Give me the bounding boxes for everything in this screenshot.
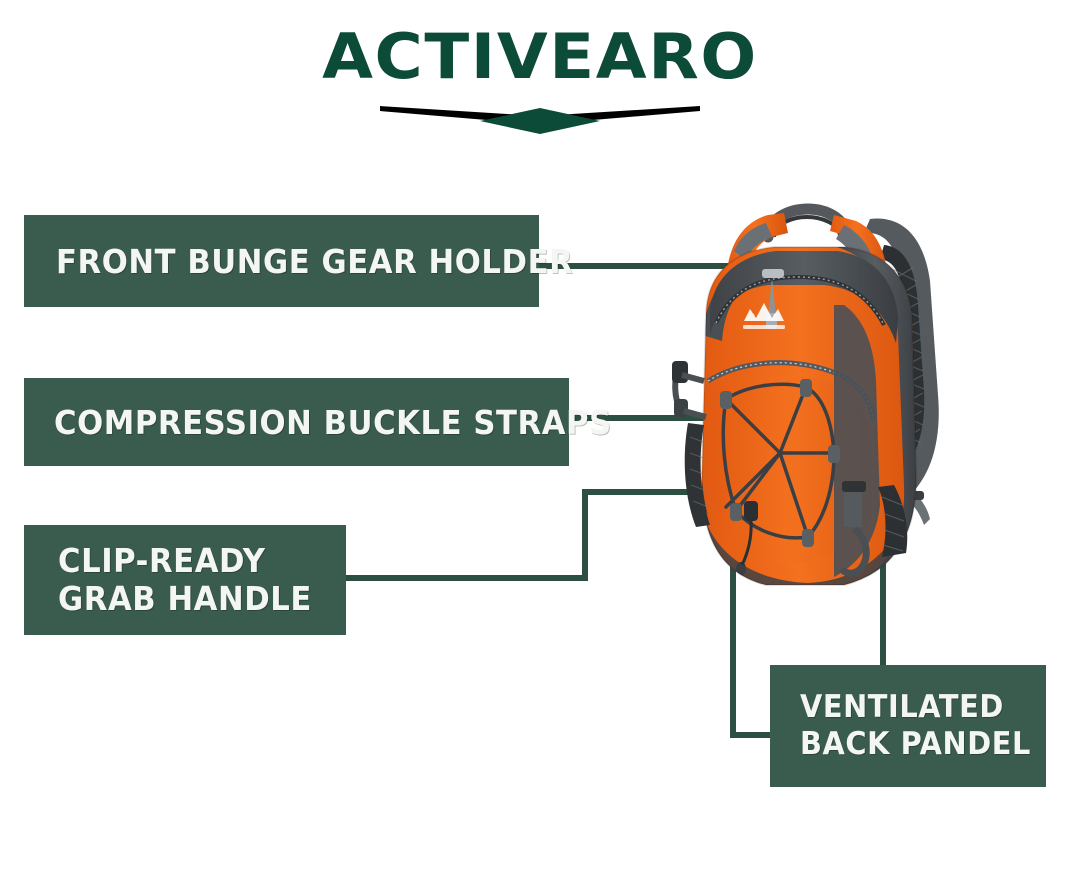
callout-line: FRONT BUNGE GEAR HOLDER [56,242,505,281]
callout-clip-ready-grab-handle[interactable]: CLIP-READY GRAB HANDLE [24,525,346,635]
infographic-canvas: ACTIVEARO [0,0,1080,895]
callout-line: BACK PANDEL [800,726,1029,763]
callout-line: CLIP-READY [58,542,326,580]
callout-front-bunge-gear-holder[interactable]: FRONT BUNGE GEAR HOLDER [24,215,539,307]
callout-compression-buckle-straps[interactable]: COMPRESSION BUCKLE STRAPS [24,378,569,466]
callout-ventilated-back-pandel[interactable]: VENTILATED BACK PANDEL [770,665,1046,787]
backpack-product-image [648,185,988,625]
callout-line: GRAB HANDLE [58,580,326,618]
callout-line: COMPRESSION BUCKLE STRAPS [54,403,533,442]
cord-lock [744,501,758,521]
callout-line: VENTILATED [800,689,1029,726]
